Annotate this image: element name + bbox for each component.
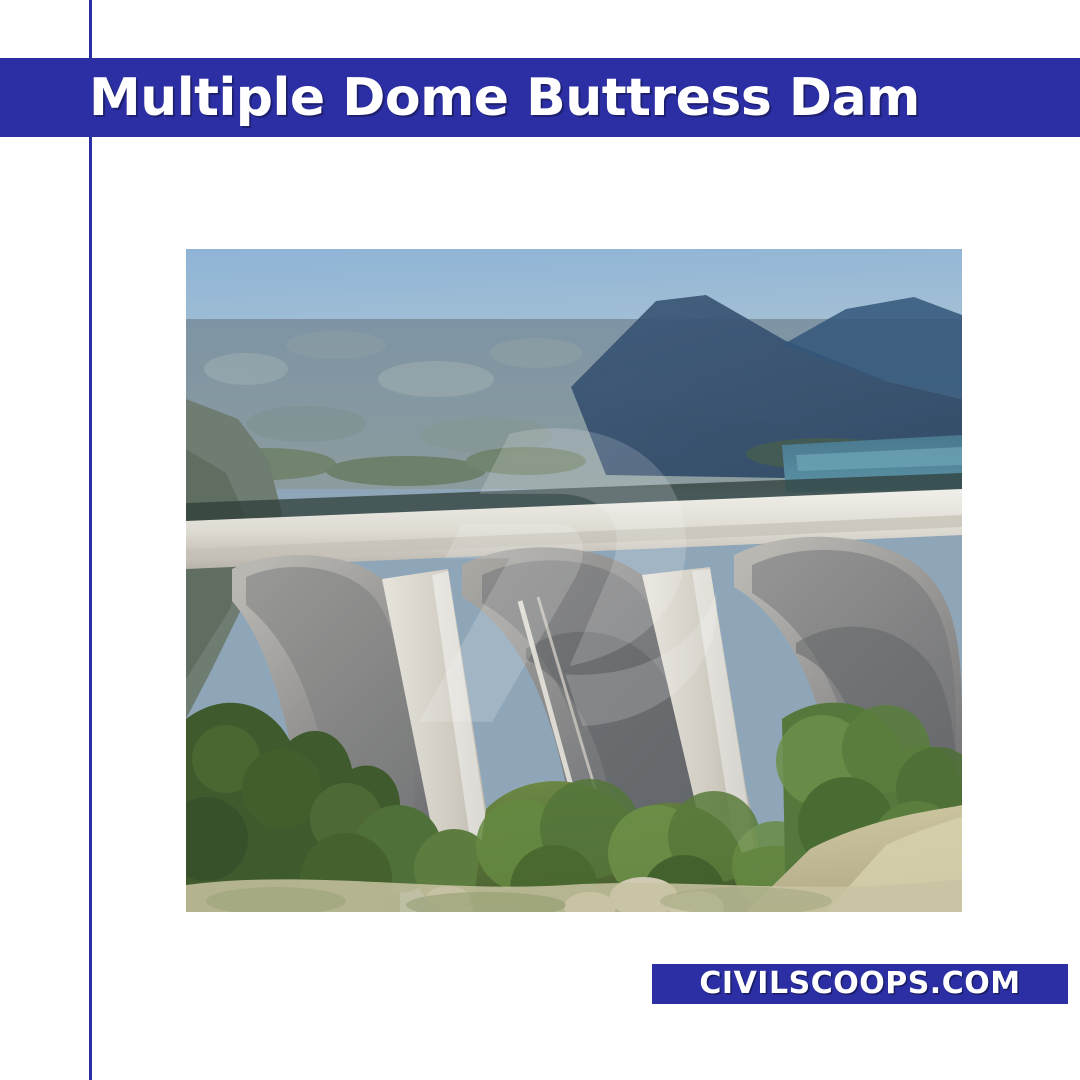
dam-photo bbox=[186, 249, 962, 912]
site-logo-badge[interactable]: CIVILSCOOPS.COM bbox=[652, 964, 1068, 1004]
title-banner: Multiple Dome Buttress Dam bbox=[0, 58, 1080, 137]
poster-page: Multiple Dome Buttress Dam bbox=[0, 0, 1080, 1080]
page-title: Multiple Dome Buttress Dam bbox=[89, 72, 920, 124]
dam-photo-illustration bbox=[186, 249, 962, 912]
site-logo-text: CIVILSCOOPS.COM bbox=[699, 969, 1020, 999]
vertical-accent-rule bbox=[89, 0, 92, 1080]
